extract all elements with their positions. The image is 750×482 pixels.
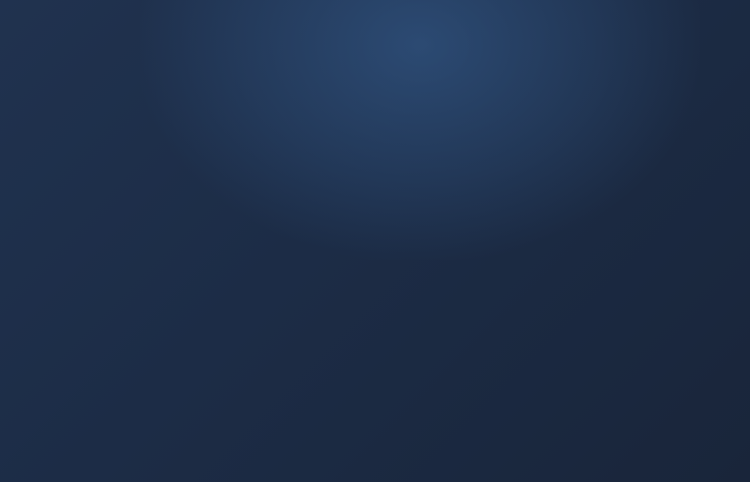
background-glow-top-right: [140, 0, 700, 260]
promo-banner: 为什么选择我们 专业测控品牌商家 云平台 免费 多项目检测 免费 远程监控 免费…: [0, 0, 750, 482]
